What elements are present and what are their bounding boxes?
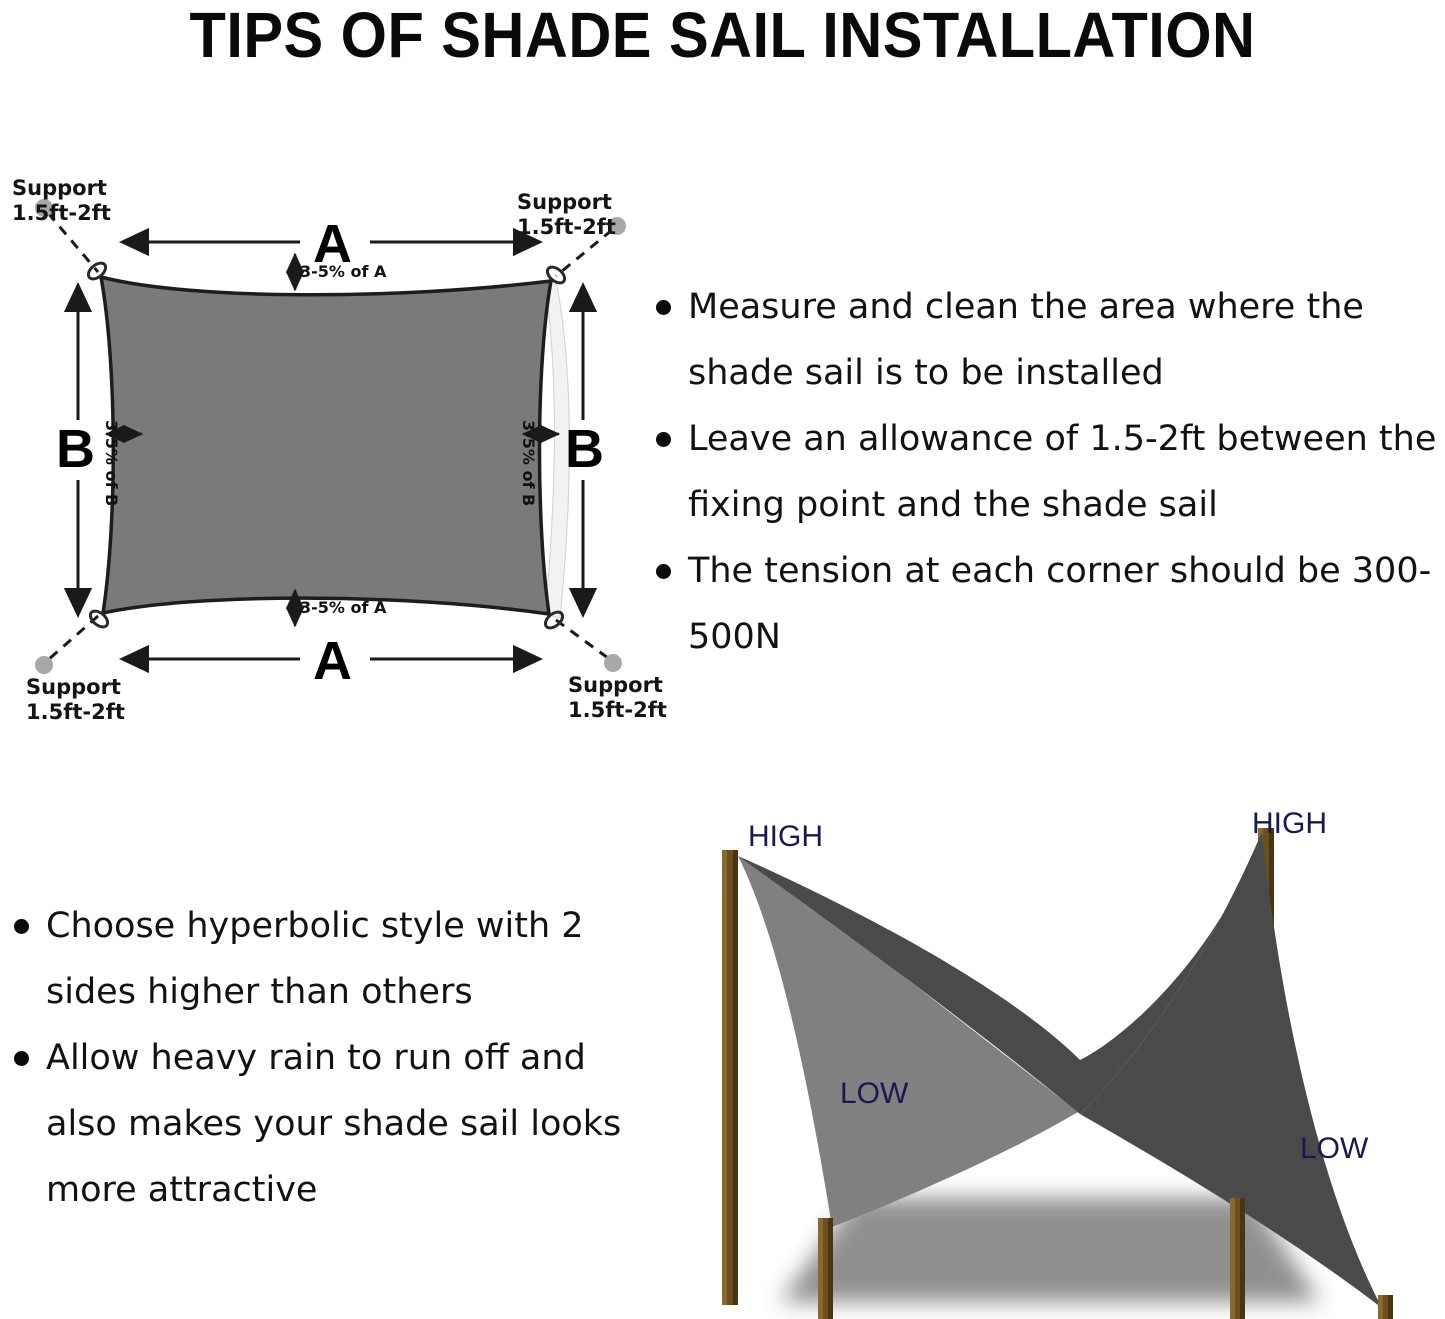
support-label-line1: Support	[568, 673, 663, 697]
installation-tips-right-list: Measure and clean the area where the sha…	[642, 274, 1445, 670]
hyperbolic-sail-diagram: HIGH HIGH LOW LOW	[660, 790, 1445, 1319]
post-low-left	[818, 1218, 833, 1319]
post-low-mid	[1230, 1198, 1245, 1319]
dimension-label-b-left: B	[56, 422, 95, 476]
sail-body	[101, 277, 551, 614]
sag-note-left: 3-5% of B	[102, 420, 120, 506]
sag-note-top: 3-5% of A	[300, 263, 386, 281]
post-low-right	[1378, 1295, 1393, 1319]
support-dot-bottom-left	[35, 656, 53, 674]
support-label-line2: 1.5ft-2ft	[26, 700, 125, 725]
label-high-left: HIGH	[748, 821, 823, 853]
rectangular-sail-diagram: Support 1.5ft-2ft Support 1.5ft-2ft Supp…	[0, 150, 660, 740]
dimension-label-a-bottom: A	[313, 634, 352, 688]
label-high-right: HIGH	[1252, 808, 1327, 840]
support-label-line2: 1.5ft-2ft	[517, 215, 616, 240]
dimension-label-b-right: B	[565, 422, 604, 476]
support-label-line1: Support	[517, 190, 612, 214]
list-item: The tension at each corner should be 300…	[642, 538, 1445, 670]
list-item: Allow heavy rain to run off and also mak…	[0, 1025, 630, 1223]
sag-note-right: 3-5% of B	[519, 420, 537, 506]
support-label-line2: 1.5ft-2ft	[568, 698, 667, 723]
label-low-left: LOW	[840, 1078, 908, 1110]
hyperbolic-sail-svg	[660, 790, 1445, 1319]
support-label-line1: Support	[12, 176, 107, 200]
post-high-left	[722, 850, 738, 1305]
support-label-bottom-right: Support 1.5ft-2ft	[568, 673, 667, 723]
sag-note-bottom: 3-5% of A	[300, 599, 386, 617]
list-item: Measure and clean the area where the sha…	[642, 274, 1445, 406]
support-label-top-right: Support 1.5ft-2ft	[517, 190, 616, 240]
installation-tips-bottom-list: Choose hyperbolic style with 2 sides hig…	[0, 893, 630, 1223]
support-label-line2: 1.5ft-2ft	[12, 201, 111, 226]
tether-bottom-right	[556, 620, 608, 658]
tether-bottom-left	[48, 616, 98, 660]
support-dot-bottom-right	[604, 654, 622, 672]
support-label-top-left: Support 1.5ft-2ft	[12, 176, 111, 226]
list-item: Choose hyperbolic style with 2 sides hig…	[0, 893, 630, 1025]
label-low-right: LOW	[1300, 1133, 1368, 1165]
page-title: TIPS OF SHADE SAIL INSTALLATION	[51, 2, 1395, 68]
support-label-bottom-left: Support 1.5ft-2ft	[26, 675, 125, 725]
list-item: Leave an allowance of 1.5-2ft between th…	[642, 406, 1445, 538]
support-label-line1: Support	[26, 675, 121, 699]
